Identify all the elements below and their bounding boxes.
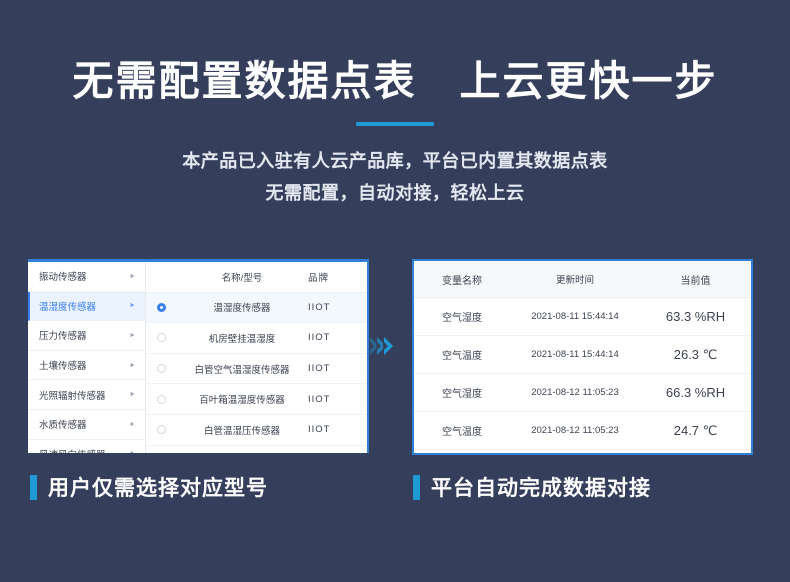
- caption-accent-bar-icon: [413, 475, 420, 500]
- table-row[interactable]: 白管空气温湿度传感器 IIOT: [146, 354, 367, 385]
- data-variables-panel: 变量名称 更新时间 当前值 空气湿度 2021-08-11 15:44:14 6…: [412, 259, 753, 455]
- variable-updated-time: 2021-08-11 15:44:14: [510, 311, 640, 322]
- product-brand: IIOT: [308, 332, 364, 343]
- variable-updated-time: 2021-08-11 15:44:14: [510, 349, 640, 360]
- captions-row: 用户仅需选择对应型号 平台自动完成数据对接: [0, 472, 790, 512]
- hero-section: 无需配置数据点表 上云更快一步 本产品已入驻有人云产品库，平台已内置其数据点表 …: [0, 0, 790, 209]
- product-selection-panel: 振动传感器 ► 温湿度传感器 ► 压力传感器 ► 土壤传感器 ► 光照辐射传感器…: [28, 259, 369, 453]
- table-row[interactable]: 百叶箱温湿度传感器 IIOT: [146, 384, 367, 415]
- product-list: 名称/型号 品牌 温湿度传感器 IIOT 机房壁挂温湿度 IIOT 白管空气温湿…: [146, 262, 367, 453]
- row-radio-cell[interactable]: [146, 425, 176, 434]
- column-variable-header: 变量名称: [414, 272, 510, 287]
- sidebar-item-label: 土壤传感器: [39, 358, 87, 372]
- radio-icon[interactable]: [157, 364, 166, 373]
- sidebar-item-label: 温湿度传感器: [39, 299, 96, 313]
- variable-name: 空气湿度: [414, 385, 510, 400]
- table-row[interactable]: 白管温湿压传感器 IIOT: [146, 415, 367, 446]
- screenshots-row: 振动传感器 ► 温湿度传感器 ► 压力传感器 ► 土壤传感器 ► 光照辐射传感器…: [0, 259, 790, 459]
- hero-subtitle: 本产品已入驻有人云产品库，平台已内置其数据点表 无需配置，自动对接，轻松上云: [0, 146, 790, 209]
- chevron-right-icon: ►: [129, 450, 135, 453]
- sidebar-item-label: 光照辐射传感器: [39, 388, 106, 402]
- page-title: 无需配置数据点表 上云更快一步: [0, 58, 790, 105]
- product-brand: IIOT: [308, 302, 364, 313]
- caption-accent-bar-icon: [30, 475, 37, 500]
- variable-current-value: 66.3 %RH: [640, 385, 751, 400]
- product-brand: IIOT: [308, 363, 364, 374]
- table-row: 空气湿度 2021-08-11 15:44:14 63.3 %RH: [414, 298, 751, 336]
- sensor-category-sidebar: 振动传感器 ► 温湿度传感器 ► 压力传感器 ► 土壤传感器 ► 光照辐射传感器…: [28, 262, 146, 453]
- sidebar-item-pressure[interactable]: 压力传感器 ►: [28, 321, 145, 351]
- triple-chevron-right-icon: [372, 337, 393, 355]
- sidebar-item-wind[interactable]: 风速风向传感器 ►: [28, 440, 145, 453]
- table-row[interactable]: 机房壁挂温湿度 IIOT: [146, 323, 367, 354]
- product-name: 百叶箱温湿度传感器: [176, 392, 308, 406]
- sidebar-item-soil[interactable]: 土壤传感器 ►: [28, 351, 145, 381]
- sidebar-item-label: 水质传感器: [39, 417, 87, 431]
- chevron-right-icon: ►: [129, 362, 135, 369]
- variable-current-value: 24.7 ℃: [640, 423, 751, 439]
- sidebar-item-label: 压力传感器: [39, 328, 87, 342]
- variable-updated-time: 2021-08-12 11:05:23: [510, 425, 640, 436]
- variable-updated-time: 2021-08-12 11:05:23: [510, 387, 640, 398]
- variables-table-header: 变量名称 更新时间 当前值: [414, 261, 751, 298]
- sidebar-item-label: 风速风向传感器: [39, 447, 106, 453]
- variable-name: 空气湿度: [414, 309, 510, 324]
- radio-selected-icon[interactable]: [157, 303, 166, 312]
- product-name: 白管温湿压传感器: [176, 423, 308, 437]
- chevron-right-icon: ►: [129, 421, 135, 428]
- column-updated-header: 更新时间: [510, 272, 640, 286]
- column-name-header: 名称/型号: [176, 270, 308, 284]
- column-brand-header: 品牌: [308, 270, 364, 284]
- variable-current-value: 63.3 %RH: [640, 309, 751, 324]
- variable-name: 空气温度: [414, 423, 510, 438]
- sidebar-item-water-quality[interactable]: 水质传感器 ►: [28, 410, 145, 440]
- sidebar-item-light-radiation[interactable]: 光照辐射传感器 ►: [28, 380, 145, 410]
- title-underline-rule: [356, 122, 434, 126]
- variable-name: 空气温度: [414, 347, 510, 362]
- caption-right: 平台自动完成数据对接: [413, 472, 651, 502]
- table-row[interactable]: 温湿度传感器 IIOT: [146, 293, 367, 324]
- sidebar-item-label: 振动传感器: [39, 269, 87, 283]
- hero-subtitle-line-1: 本产品已入驻有人云产品库，平台已内置其数据点表: [0, 146, 790, 178]
- column-current-header: 当前值: [640, 272, 751, 287]
- radio-icon[interactable]: [157, 395, 166, 404]
- product-list-header: 名称/型号 品牌: [146, 262, 367, 293]
- chevron-right-icon: [384, 337, 393, 355]
- chevron-right-icon: ►: [129, 332, 135, 339]
- row-radio-cell[interactable]: [146, 395, 176, 404]
- variable-current-value: 26.3 ℃: [640, 347, 751, 363]
- sidebar-item-vibration[interactable]: 振动传感器 ►: [28, 262, 145, 292]
- radio-icon[interactable]: [157, 333, 166, 342]
- caption-right-text: 平台自动完成数据对接: [431, 472, 651, 502]
- row-radio-cell[interactable]: [146, 303, 176, 312]
- table-row: 空气温度 2021-08-11 15:44:14 26.3 ℃: [414, 336, 751, 374]
- caption-left: 用户仅需选择对应型号: [30, 472, 268, 502]
- chevron-right-icon: ►: [129, 273, 135, 280]
- chevron-right-icon: ►: [129, 391, 135, 398]
- sidebar-item-temp-humidity[interactable]: 温湿度传感器 ►: [28, 292, 145, 322]
- row-radio-cell[interactable]: [146, 364, 176, 373]
- product-brand: IIOT: [308, 424, 364, 435]
- caption-left-text: 用户仅需选择对应型号: [48, 472, 268, 502]
- product-name: 温湿度传感器: [176, 300, 308, 314]
- product-name: 白管空气温湿度传感器: [176, 362, 308, 376]
- row-radio-cell[interactable]: [146, 333, 176, 342]
- product-name: 机房壁挂温湿度: [176, 331, 308, 345]
- product-brand: IIOT: [308, 394, 364, 405]
- table-row: 空气湿度 2021-08-12 11:05:23 66.3 %RH: [414, 374, 751, 412]
- chevron-right-icon: ►: [129, 302, 135, 309]
- table-row: 空气温度 2021-08-12 11:05:23 24.7 ℃: [414, 412, 751, 450]
- hero-subtitle-line-2: 无需配置，自动对接，轻松上云: [0, 178, 790, 210]
- radio-icon[interactable]: [157, 425, 166, 434]
